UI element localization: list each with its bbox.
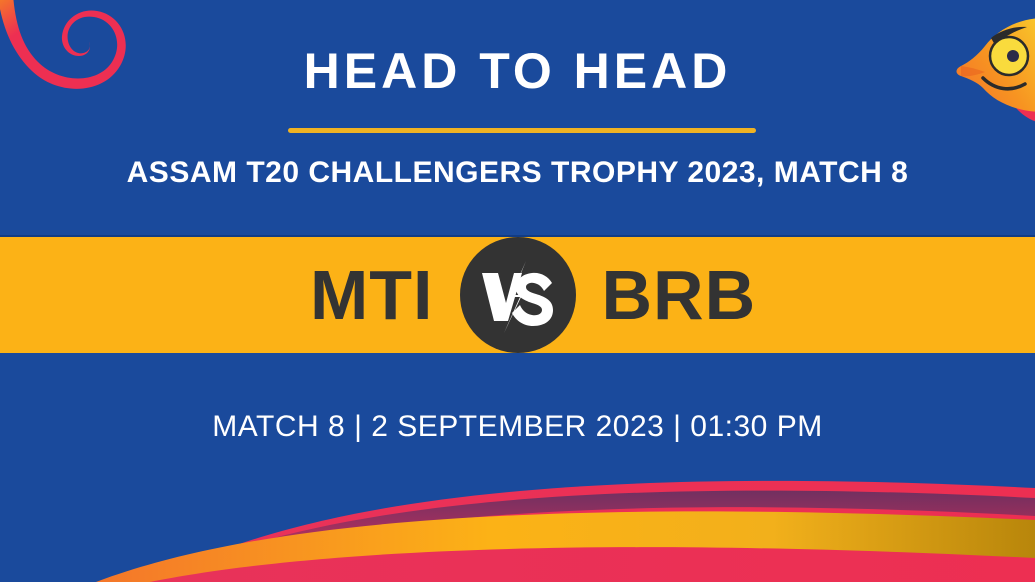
page-title: HEAD TO HEAD bbox=[0, 46, 1035, 96]
vs-badge bbox=[460, 237, 576, 353]
title-underline bbox=[288, 128, 756, 133]
match-details: MATCH 8 | 2 SEPTEMBER 2023 | 01:30 PM bbox=[0, 410, 1035, 443]
background-band-top bbox=[0, 0, 1035, 237]
head-to-head-poster: HEAD TO HEAD ASSAM T20 CHALLENGERS TROPH… bbox=[0, 0, 1035, 582]
tournament-subtitle: ASSAM T20 CHALLENGERS TROPHY 2023, MATCH… bbox=[0, 156, 1035, 189]
vs-lightning-icon bbox=[460, 237, 576, 353]
away-team-code: BRB bbox=[576, 260, 832, 330]
teams-row: MTI BRB bbox=[0, 237, 1035, 353]
home-team-code: MTI bbox=[204, 260, 460, 330]
background-band-bottom bbox=[0, 353, 1035, 582]
